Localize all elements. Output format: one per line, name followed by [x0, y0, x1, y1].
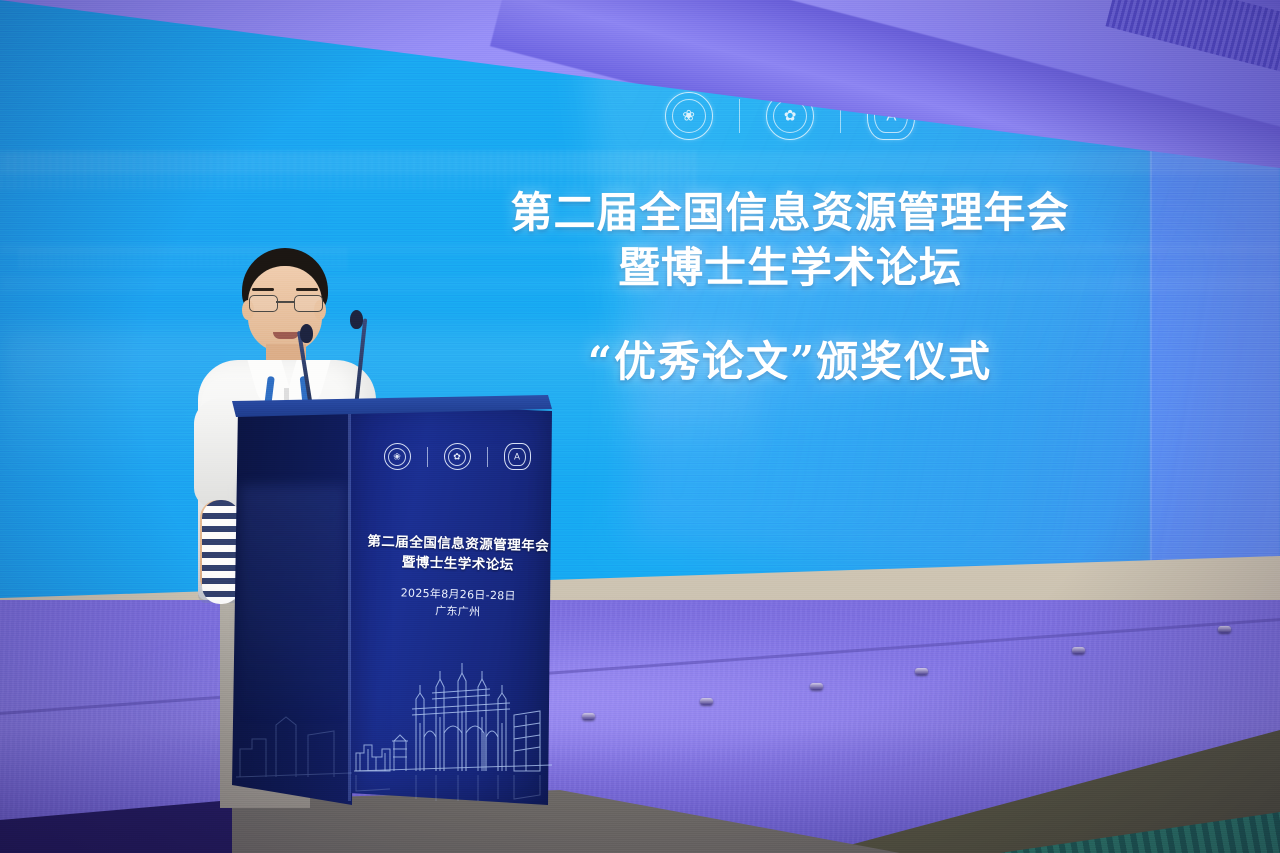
- glasses-lens-left: [249, 295, 278, 312]
- podium-seal-1-icon: ❀: [384, 443, 411, 470]
- podium-seal-2-glyph: ✿: [445, 452, 470, 461]
- gooseneck-microphone-left-head: [300, 324, 313, 343]
- university-seal-1-icon: ❀: [665, 92, 713, 140]
- podium-seal-3-icon: A: [504, 443, 531, 470]
- gooseneck-microphone-right-head: [350, 310, 363, 329]
- floor-socket: [1218, 626, 1231, 633]
- speaker-eyebrow-right: [296, 288, 318, 291]
- university-seal-1-glyph: ❀: [666, 109, 712, 124]
- podium-seal-3-glyph: A: [505, 452, 530, 461]
- floor-socket: [810, 683, 823, 690]
- floor-socket: [1072, 647, 1085, 654]
- speaker-eyebrow-left: [252, 288, 274, 291]
- podium-title: 第二届全国信息资源管理年会 暨博士生学术论坛: [359, 532, 556, 577]
- floor-socket: [700, 698, 713, 705]
- podium-side-line-art: [236, 665, 352, 785]
- podium-seal-divider-2: [487, 447, 488, 467]
- podium-seal-1-glyph: ❀: [385, 452, 410, 461]
- conference-stage-photo: ❀ ✿ A 第二届全国信息资源管理年会 暨博士生学术论坛 “优秀论文”颁奖仪式: [0, 0, 1280, 853]
- floor-socket: [915, 668, 928, 675]
- podium-seal-2-icon: ✿: [444, 443, 471, 470]
- university-seal-2-glyph: ✿: [767, 109, 813, 124]
- floor-socket: [582, 713, 595, 720]
- glasses-lens-right: [294, 295, 323, 312]
- seal-divider-1: [739, 99, 740, 133]
- podium-seal-divider-1: [427, 447, 428, 467]
- guangzhou-landmark-line-art: [354, 653, 552, 801]
- screen-title-line-1: 第二届全国信息资源管理年会: [150, 186, 1280, 241]
- podium-seal-row: ❀ ✿ A: [372, 443, 542, 470]
- glasses-bridge: [276, 301, 294, 303]
- speaker-mouth: [273, 332, 299, 339]
- glasses-icon: [248, 295, 322, 311]
- podium: ❀ ✿ A 第二届全国信息资源管理年会 暨博士生学术论坛 2025年8月26日-…: [232, 395, 552, 815]
- podium-date-location: 2025年8月26日-28日 广东广州: [360, 584, 557, 622]
